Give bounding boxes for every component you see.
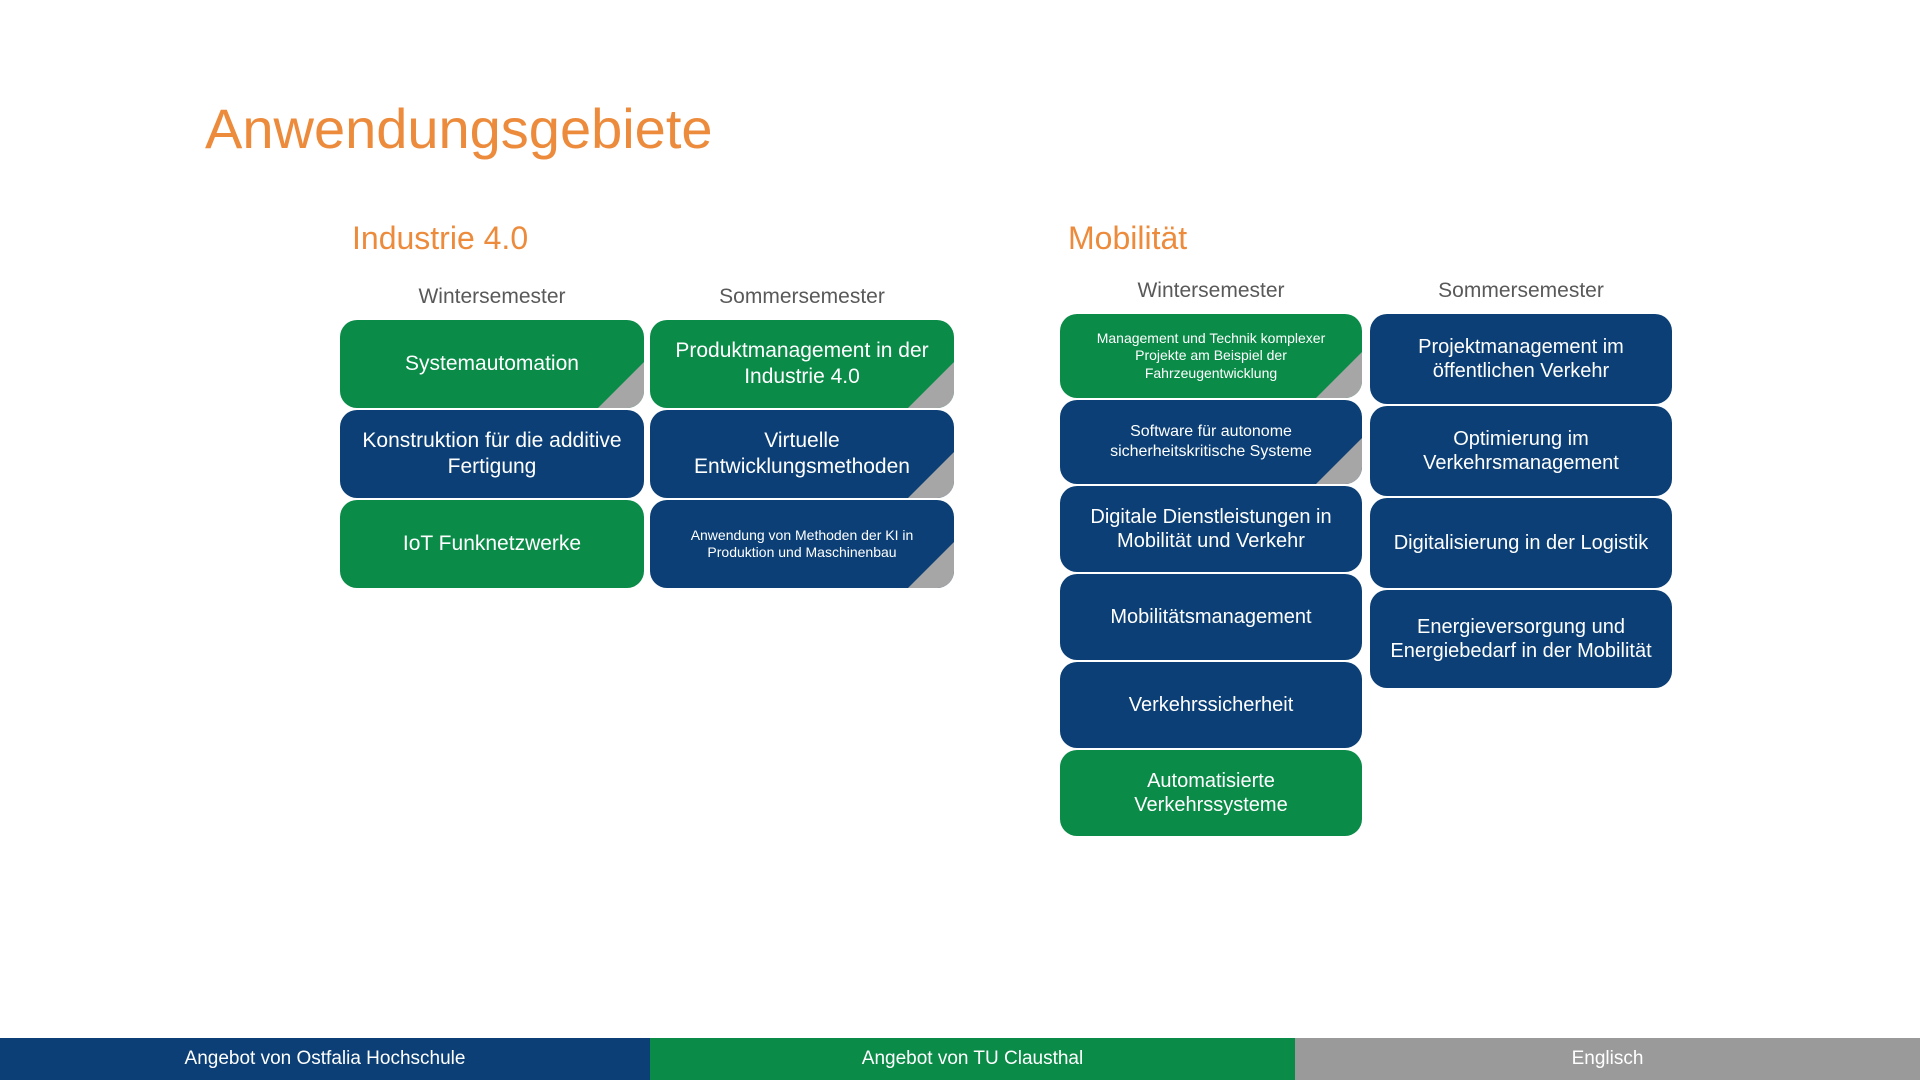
course-label: Virtuelle Entwicklungsmethoden	[664, 428, 940, 479]
course-list: Systemautomation Konstruktion für die ad…	[340, 320, 644, 588]
course-box[interactable]: Digitalisierung in der Logistik	[1370, 498, 1672, 588]
course-label: Projektmanagement im öffentlichen Verkeh…	[1384, 335, 1658, 384]
column-header: Sommersemester	[1370, 279, 1672, 303]
course-box[interactable]: IoT Funknetzwerke	[340, 500, 644, 588]
course-label: Optimierung im Verkehrsmanagement	[1384, 427, 1658, 476]
course-label: Management und Technik komplexer Projekt…	[1074, 330, 1348, 381]
column-wintersemester: Wintersemester Management und Technik ko…	[1060, 279, 1362, 836]
course-label: Software für autonome sicherheitskritisc…	[1074, 422, 1348, 461]
semester-columns: Wintersemester Systemautomation Konstruk…	[340, 285, 954, 588]
column-header: Wintersemester	[340, 285, 644, 309]
legend-label: Englisch	[1572, 1048, 1644, 1070]
column-header: Wintersemester	[1060, 279, 1362, 303]
course-box[interactable]: Energieversorgung und Energiebedarf in d…	[1370, 590, 1672, 688]
course-box[interactable]: Verkehrssicherheit	[1060, 662, 1362, 748]
course-box[interactable]: Optimierung im Verkehrsmanagement	[1370, 406, 1672, 496]
legend-bar: Angebot von Ostfalia Hochschule Angebot …	[0, 1038, 1920, 1080]
course-label: Produktmanagement in der Industrie 4.0	[664, 338, 940, 389]
course-list: Management und Technik komplexer Projekt…	[1060, 314, 1362, 836]
legend-label: Angebot von Ostfalia Hochschule	[185, 1048, 466, 1070]
page-title: Anwendungsgebiete	[205, 100, 713, 159]
course-box[interactable]: Konstruktion für die additive Fertigung	[340, 410, 644, 498]
legend-item-englisch: Englisch	[1295, 1038, 1920, 1080]
course-label: IoT Funknetzwerke	[403, 531, 581, 557]
course-box[interactable]: Virtuelle Entwicklungsmethoden	[650, 410, 954, 498]
section-title: Mobilität	[1068, 220, 1672, 257]
course-box[interactable]: Management und Technik komplexer Projekt…	[1060, 314, 1362, 398]
column-header: Sommersemester	[650, 285, 954, 309]
course-box[interactable]: Digitale Dienstleistungen in Mobilität u…	[1060, 486, 1362, 572]
legend-item-ostfalia: Angebot von Ostfalia Hochschule	[0, 1038, 650, 1080]
legend-label: Angebot von TU Clausthal	[862, 1048, 1083, 1070]
course-label: Mobilitätsmanagement	[1110, 605, 1311, 629]
course-box[interactable]: Produktmanagement in der Industrie 4.0	[650, 320, 954, 408]
legend-item-clausthal: Angebot von TU Clausthal	[650, 1038, 1295, 1080]
english-marker-icon	[598, 362, 644, 408]
course-box[interactable]: Automatisierte Verkehrssysteme	[1060, 750, 1362, 836]
course-label: Verkehrssicherheit	[1129, 693, 1294, 717]
section-mobilitaet: Mobilität Wintersemester Management und …	[1060, 220, 1672, 836]
course-label: Anwendung von Methoden der KI in Produkt…	[664, 527, 940, 561]
section-title: Industrie 4.0	[352, 220, 954, 257]
column-sommersemester: Sommersemester Produktmanagement in der …	[650, 285, 954, 588]
course-list: Produktmanagement in der Industrie 4.0 V…	[650, 320, 954, 588]
course-label: Systemautomation	[405, 351, 579, 377]
course-box[interactable]: Anwendung von Methoden der KI in Produkt…	[650, 500, 954, 588]
course-label: Digitale Dienstleistungen in Mobilität u…	[1074, 505, 1348, 554]
course-box[interactable]: Systemautomation	[340, 320, 644, 408]
semester-columns: Wintersemester Management und Technik ko…	[1060, 279, 1672, 836]
column-wintersemester: Wintersemester Systemautomation Konstruk…	[340, 285, 644, 588]
course-label: Digitalisierung in der Logistik	[1394, 531, 1649, 555]
section-industrie-4-0: Industrie 4.0 Wintersemester Systemautom…	[340, 220, 954, 588]
course-label: Automatisierte Verkehrssysteme	[1074, 769, 1348, 818]
course-list: Projektmanagement im öffentlichen Verkeh…	[1370, 314, 1672, 688]
course-box[interactable]: Mobilitätsmanagement	[1060, 574, 1362, 660]
course-box[interactable]: Software für autonome sicherheitskritisc…	[1060, 400, 1362, 484]
column-sommersemester: Sommersemester Projektmanagement im öffe…	[1370, 279, 1672, 688]
course-label: Energieversorgung und Energiebedarf in d…	[1384, 615, 1658, 664]
course-box[interactable]: Projektmanagement im öffentlichen Verkeh…	[1370, 314, 1672, 404]
course-label: Konstruktion für die additive Fertigung	[354, 428, 630, 479]
